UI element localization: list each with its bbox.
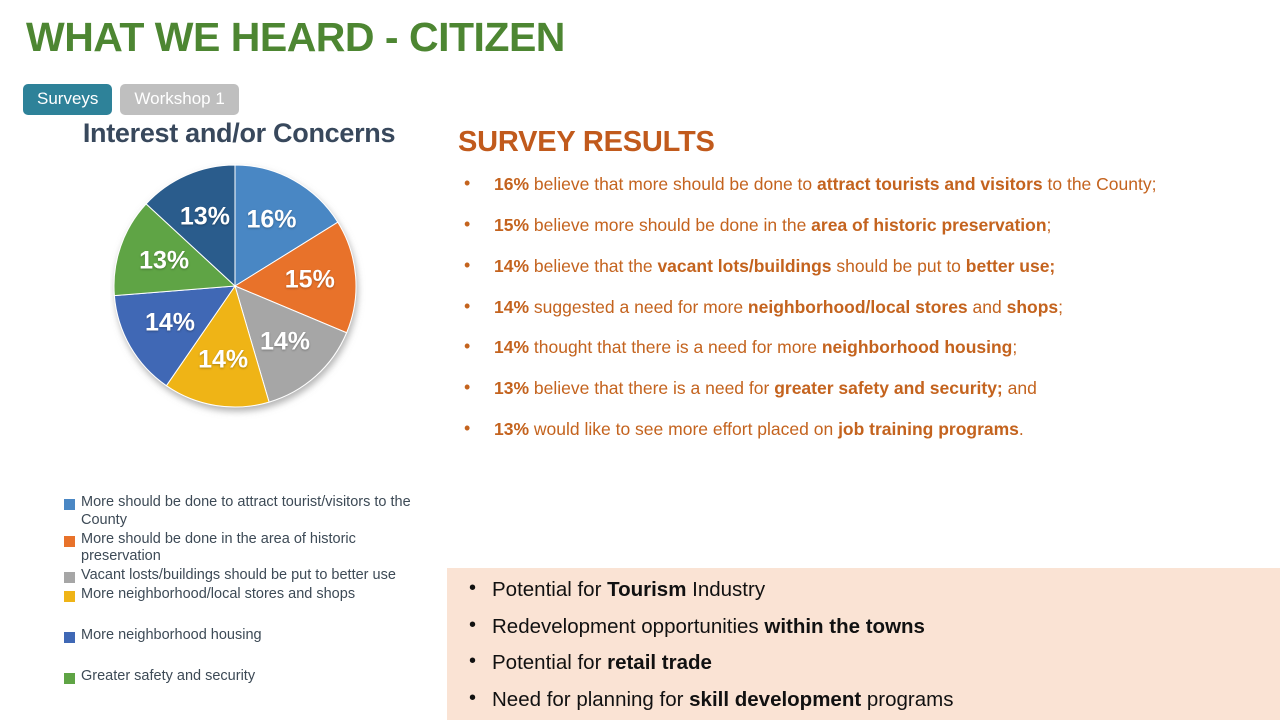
legend-item-label: Vacant losts/buildings should be put to …: [81, 567, 396, 585]
legend-item[interactable]: Greater safety and security: [64, 668, 424, 686]
legend-swatch-icon: [64, 591, 75, 602]
summary-item: Redevelopment opportunities within the t…: [463, 617, 1280, 638]
emphasis-text: within the towns: [764, 615, 925, 638]
summary-item: Potential for Tourism Industry: [463, 580, 1280, 601]
body-text: believe that there is a need for: [529, 378, 774, 398]
emphasis-text: area of historic preservation: [811, 215, 1046, 235]
legend-swatch-icon: [64, 536, 75, 547]
legend-swatch-icon: [64, 572, 75, 583]
body-text: believe that the: [529, 256, 657, 276]
emphasis-text: greater safety and security;: [774, 378, 1003, 398]
legend-item[interactable]: More should be done in the area of histo…: [64, 531, 424, 567]
emphasis-text: 13%: [494, 419, 529, 439]
emphasis-text: neighborhood housing: [822, 337, 1013, 357]
survey-result-item: 15% believe more should be done in the a…: [458, 213, 1228, 238]
legend-swatch-icon: [64, 632, 75, 643]
body-text: would like to see more effort placed on: [529, 419, 838, 439]
emphasis-text: 14%: [494, 337, 529, 357]
body-text: believe more should be done in the: [529, 215, 811, 235]
legend-item-label: More neighborhood housing: [81, 627, 262, 645]
emphasis-text: job training programs: [838, 419, 1019, 439]
legend-swatch-icon: [64, 499, 75, 510]
emphasis-text: 14%: [494, 256, 529, 276]
tab-workshop-1-label: Workshop 1: [134, 89, 224, 108]
pie-slice-label: 14%: [145, 309, 195, 338]
body-text: should be put to: [832, 256, 966, 276]
body-text: .: [1019, 419, 1024, 439]
pie-slice-label: 14%: [198, 345, 248, 374]
pie-slice-label: 13%: [180, 203, 230, 232]
body-text: Need for planning for: [492, 688, 689, 711]
legend-item[interactable]: More should be done to attract tourist/v…: [64, 494, 424, 530]
emphasis-text: retail trade: [607, 651, 712, 674]
tab-bar: Surveys Workshop 1: [23, 84, 239, 115]
emphasis-text: neighborhood/local stores: [748, 297, 968, 317]
body-text: thought that there is a need for more: [529, 337, 822, 357]
chart-legend: More should be done to attract tourist/v…: [64, 494, 424, 687]
pie-chart-panel: Interest and/or Concerns 16%15%14%14%14%…: [40, 118, 440, 420]
pie-slice-label: 13%: [139, 247, 189, 276]
body-text: Potential for: [492, 651, 607, 674]
body-text: and: [1003, 378, 1037, 398]
legend-item-label: More neighborhood/local stores and shops: [81, 586, 355, 604]
tab-workshop-1[interactable]: Workshop 1: [120, 84, 238, 115]
legend-item-label: More should be done to attract tourist/v…: [81, 494, 424, 530]
emphasis-text: better use;: [966, 256, 1055, 276]
survey-result-item: 14% thought that there is a need for mor…: [458, 335, 1228, 360]
body-text: suggested a need for more: [529, 297, 748, 317]
body-text: to the County;: [1043, 174, 1157, 194]
body-text: ;: [1012, 337, 1017, 357]
body-text: and: [968, 297, 1007, 317]
body-text: Potential for: [492, 578, 607, 601]
body-text: believe that more should be done to: [529, 174, 817, 194]
summary-item: Need for planning for skill development …: [463, 690, 1280, 711]
emphasis-text: 16%: [494, 174, 529, 194]
survey-result-item: 13% believe that there is a need for gre…: [458, 376, 1228, 401]
legend-item[interactable]: Vacant losts/buildings should be put to …: [64, 567, 424, 585]
survey-results-list: 16% believe that more should be done to …: [458, 172, 1228, 458]
summary-item: Potential for retail trade: [463, 653, 1280, 674]
body-text: ;: [1047, 215, 1052, 235]
legend-item[interactable]: More neighborhood/local stores and shops: [64, 586, 424, 604]
survey-result-item: 16% believe that more should be done to …: [458, 172, 1228, 197]
survey-result-item: 14% suggested a need for more neighborho…: [458, 295, 1228, 320]
pie-slice-label: 14%: [260, 327, 310, 356]
chart-title: Interest and/or Concerns: [48, 118, 430, 150]
legend-item-label: Greater safety and security: [81, 668, 255, 686]
page-title: WHAT WE HEARD - CITIZEN: [26, 16, 565, 59]
body-text: ;: [1058, 297, 1063, 317]
survey-result-item: 14% believe that the vacant lots/buildin…: [458, 254, 1228, 279]
legend-item[interactable]: More neighborhood housing: [64, 627, 424, 645]
body-text: Industry: [686, 578, 765, 601]
legend-item-label: More should be done in the area of histo…: [81, 531, 424, 567]
summary-list: Potential for Tourism IndustryRedevelopm…: [463, 580, 1280, 710]
body-text: programs: [861, 688, 953, 711]
emphasis-text: vacant lots/buildings: [657, 256, 831, 276]
emphasis-text: shops: [1007, 297, 1059, 317]
tab-surveys-label: Surveys: [37, 89, 98, 108]
survey-results-heading: SURVEY RESULTS: [458, 126, 715, 159]
body-text: Redevelopment opportunities: [492, 615, 764, 638]
emphasis-text: 15%: [494, 215, 529, 235]
survey-result-item: 13% would like to see more effort placed…: [458, 417, 1228, 442]
summary-callout-box: Potential for Tourism IndustryRedevelopm…: [447, 568, 1280, 720]
emphasis-text: 14%: [494, 297, 529, 317]
emphasis-text: skill development: [689, 688, 861, 711]
emphasis-text: 13%: [494, 378, 529, 398]
pie-slice-label: 16%: [246, 206, 296, 235]
emphasis-text: attract tourists and visitors: [817, 174, 1043, 194]
pie-chart: 16%15%14%14%14%13%13%: [110, 158, 370, 420]
emphasis-text: Tourism: [607, 578, 686, 601]
pie-slice-label: 15%: [285, 265, 335, 294]
tab-surveys[interactable]: Surveys: [23, 84, 112, 115]
legend-swatch-icon: [64, 673, 75, 684]
